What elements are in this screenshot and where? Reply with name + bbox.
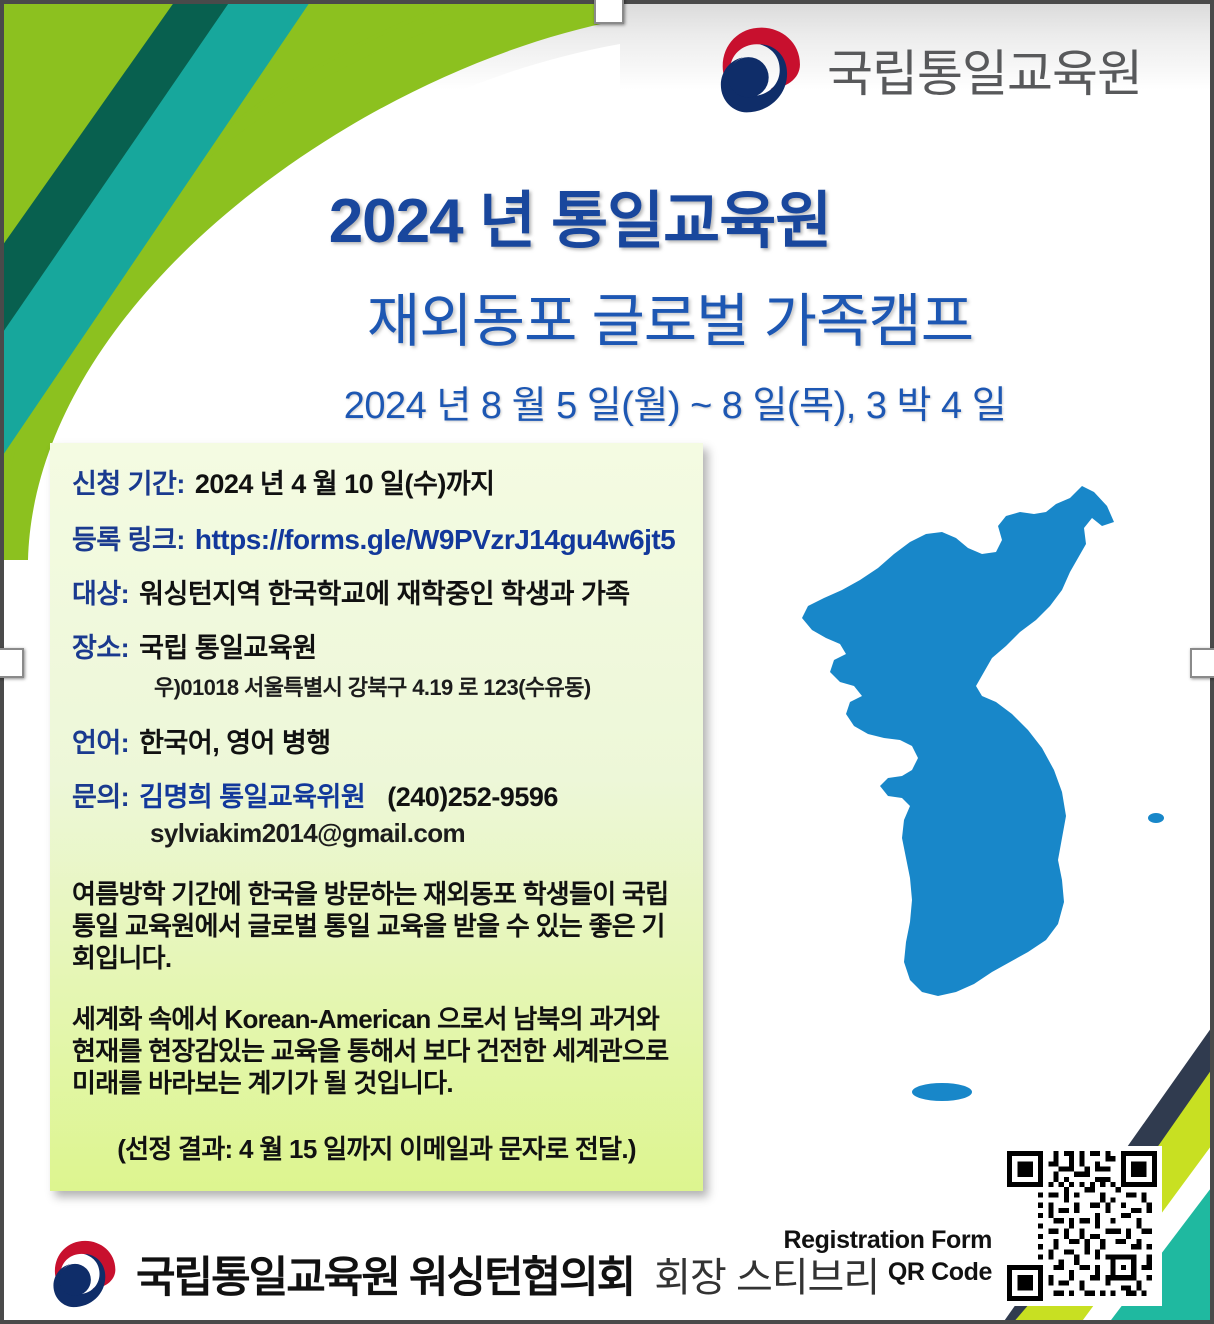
info-row-target: 대상: 워싱턴지역 한국학교에 재학중인 학생과 가족 [72, 579, 681, 611]
korea-peninsula-map-icon [770, 440, 1170, 1140]
target-value: 워싱턴지역 한국학교에 재학중인 학생과 가족 [139, 579, 629, 611]
poster-dates: 2024 년 8 월 5 일(월) ~ 8 일(목), 3 박 4 일 [0, 374, 1150, 429]
registration-link-url[interactable]: https://forms.gle/W9PVzrJ14gu4w6jt5 [195, 523, 675, 556]
target-label: 대상: [72, 579, 129, 611]
selection-handle-right[interactable] [1190, 648, 1214, 678]
poster-title-line2: 재외동포 글로벌 가족캠프 [0, 274, 1150, 358]
selection-result-note: (선정 결과: 4 월 15 일까지 이메일과 문자로 전달.) [72, 1129, 681, 1166]
qr-code-icon[interactable] [1007, 1151, 1157, 1301]
info-row-language: 언어: 한국어, 영어 병행 [72, 728, 681, 760]
info-block-venue: 장소: 국립 통일교육원 우)01018 서울특별시 강북구 4.19 로 12… [72, 633, 681, 703]
info-block-contact: 문의: 김명희 통일교육위원 (240)252-9596 sylviakim20… [72, 782, 681, 849]
footer-role: 회장 스티브리 [654, 1245, 879, 1303]
header-logo: 국립통일교육원 [719, 24, 1142, 116]
selection-handle-top[interactable] [594, 0, 624, 24]
description-paragraph-2: 세계화 속에서 Korean-American 으로서 남북의 과거와 현재를 … [72, 1004, 681, 1099]
venue-value: 국립 통일교육원 [139, 633, 316, 665]
korea-government-taegeuk-icon [719, 24, 811, 116]
contact-email[interactable]: sylviakim2014@gmail.com [150, 818, 681, 849]
header-org-name: 국립통일교육원 [827, 34, 1142, 106]
footer-org-name: 국립통일교육원 워싱턴협의회 [136, 1243, 634, 1305]
contact-person: 김명희 통일교육위원 [139, 782, 365, 814]
info-row-application-period: 신청 기간: 2024 년 4 월 10 일(수)까지 [72, 469, 681, 501]
language-label: 언어: [72, 728, 129, 760]
venue-label: 장소: [72, 633, 129, 665]
registration-link-label: 등록 링크: [72, 525, 185, 557]
application-period-value: 2024 년 4 월 10 일(수)까지 [195, 469, 495, 501]
info-panel: 신청 기간: 2024 년 4 월 10 일(수)까지 등록 링크: https… [50, 443, 703, 1191]
title-block: 2024 년 통일교육원 재외동포 글로벌 가족캠프 2024 년 8 월 5 … [0, 170, 1150, 429]
qr-code-box[interactable] [1002, 1146, 1162, 1306]
language-value: 한국어, 영어 병행 [139, 728, 330, 760]
info-row-registration-link: 등록 링크: https://forms.gle/W9PVzrJ14gu4w6j… [72, 523, 681, 557]
footer: 국립통일교육원 워싱턴협의회 회장 스티브리 [52, 1238, 879, 1310]
selection-handle-left[interactable] [0, 648, 24, 678]
selection-border-bottom [0, 1320, 1214, 1324]
contact-phone: (240)252-9596 [387, 782, 558, 814]
venue-address: 우)01018 서울특별시 강북구 4.19 로 123(수유동) [154, 670, 681, 702]
info-row-contact: 문의: 김명희 통일교육위원 (240)252-9596 [72, 782, 681, 814]
poster-title-line1: 2024 년 통일교육원 [0, 170, 1150, 260]
info-row-venue: 장소: 국립 통일교육원 [72, 633, 681, 665]
contact-label: 문의: [72, 782, 129, 814]
description-paragraph-1: 여름방학 기간에 한국을 방문하는 재외동포 학생들이 국립 통일 교육원에서 … [72, 879, 681, 974]
application-period-label: 신청 기간: [72, 469, 185, 501]
poster-slide: 국립통일교육원 2024 년 통일교육원 재외동포 글로벌 가족캠프 2024 … [0, 0, 1214, 1324]
korea-government-taegeuk-icon [52, 1238, 124, 1310]
